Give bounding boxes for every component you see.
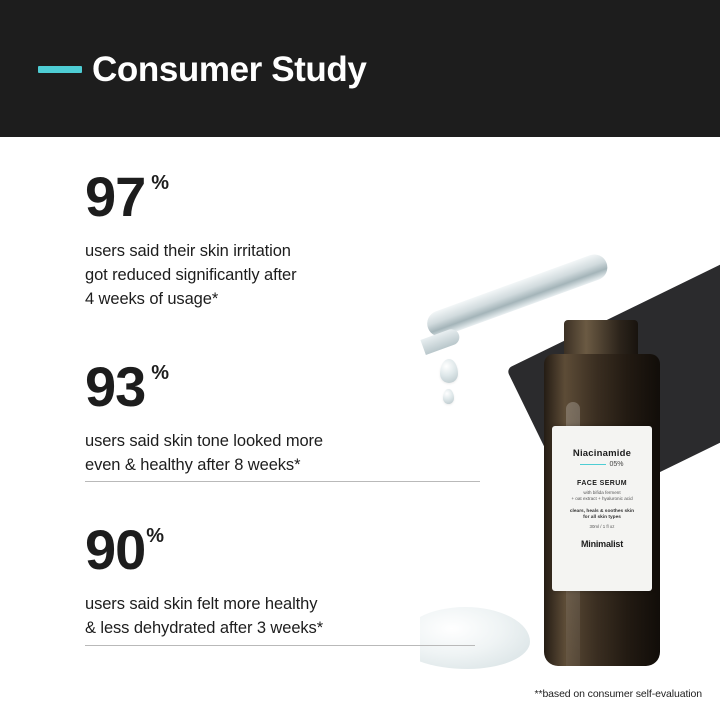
- stat-description: users said their skin irritation got red…: [85, 239, 485, 311]
- label-product-claims: clears, heals & soothes skin for all ski…: [552, 509, 652, 522]
- label-percent-row: 05%: [552, 461, 652, 468]
- stat-item: 97 % users said their skin irritation go…: [85, 169, 485, 311]
- bottle-neck: [564, 320, 638, 358]
- stat-description: users said skin felt more healthy & less…: [85, 592, 485, 640]
- stats-list: 97 % users said their skin irritation go…: [0, 137, 500, 720]
- stat-percent-sign: %: [146, 526, 164, 546]
- label-accent-rule: [580, 464, 606, 466]
- stat-number-row: 97 %: [85, 169, 485, 225]
- stat-number: 97: [85, 169, 145, 225]
- label-brand-name: Minimalist: [552, 539, 652, 549]
- stat-percent-sign: %: [151, 363, 169, 383]
- stat-number: 93: [85, 359, 145, 415]
- stat-item: 90 % users said skin felt more healthy &…: [85, 522, 485, 640]
- accent-dash-icon: [38, 66, 82, 73]
- label-product-size: 30ml / 1 fl oz: [552, 524, 652, 529]
- header-bar: Consumer Study: [0, 0, 720, 137]
- stat-item: 93 % users said skin tone looked more ev…: [85, 359, 485, 477]
- footnote-text: **based on consumer self-evaluation: [534, 688, 702, 700]
- stat-number-row: 93 %: [85, 359, 485, 415]
- bottle-label: Niacinamide 05% FACE SERUM with bifida f…: [552, 426, 652, 591]
- label-product-subtitle: with bifida ferment + oat extract + hyal…: [552, 490, 652, 502]
- stat-number-row: 90 %: [85, 522, 485, 578]
- label-product-name: Niacinamide: [552, 448, 652, 459]
- stat-percent-sign: %: [151, 173, 169, 193]
- label-product-type: FACE SERUM: [552, 480, 652, 487]
- stat-number: 90: [85, 522, 145, 578]
- consumer-study-card: Consumer Study Niacinamide 05% FACE SERU…: [0, 0, 720, 720]
- serum-bottle: Niacinamide 05% FACE SERUM with bifida f…: [538, 320, 666, 670]
- stat-description: users said skin tone looked more even & …: [85, 429, 485, 477]
- page-title: Consumer Study: [92, 48, 366, 92]
- stat-divider: [85, 481, 480, 482]
- label-product-percent: 05%: [609, 461, 623, 468]
- stat-divider: [85, 645, 475, 646]
